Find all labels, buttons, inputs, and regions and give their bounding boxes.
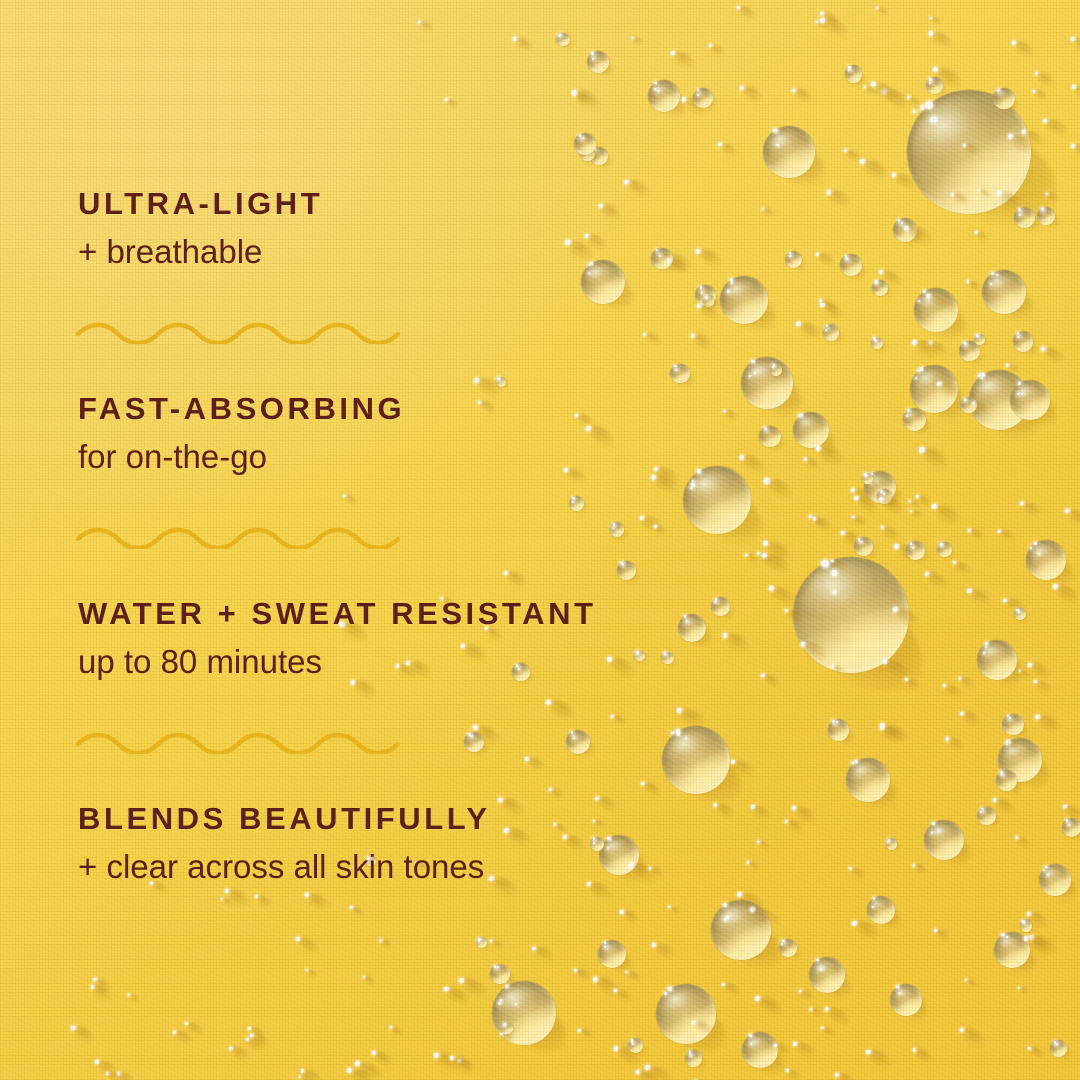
droplet-sparkle xyxy=(1022,130,1026,134)
droplet-sparkle xyxy=(1035,715,1040,720)
droplet-sparkle xyxy=(1028,1047,1031,1050)
water-droplet xyxy=(977,807,995,825)
droplet-sparkle xyxy=(844,149,847,152)
water-droplet xyxy=(996,770,1017,791)
feature-item-fast-absorbing: FAST-ABSORBING for on-the-go xyxy=(78,393,405,473)
droplet-sparkle xyxy=(852,921,857,926)
droplet-sparkle xyxy=(1018,987,1020,989)
water-droplet xyxy=(890,984,922,1016)
droplet-sparkle xyxy=(1046,193,1048,195)
feature-headline: FAST-ABSORBING xyxy=(78,393,405,424)
droplet-sparkle xyxy=(951,193,954,196)
feature-subline: + breathable xyxy=(78,235,323,268)
droplet-sparkle xyxy=(849,867,852,870)
water-droplet xyxy=(846,758,890,802)
droplet-sparkle xyxy=(967,589,971,593)
water-droplet xyxy=(828,719,850,741)
droplet-sparkle xyxy=(925,572,929,576)
water-droplet xyxy=(937,542,951,556)
water-droplet xyxy=(793,412,829,448)
water-droplet xyxy=(974,334,985,345)
droplet-sparkle xyxy=(860,159,865,164)
droplet-sparkle xyxy=(816,21,818,23)
droplet-sparkle xyxy=(831,560,834,563)
droplet-sparkle xyxy=(854,496,858,500)
droplet-sparkle xyxy=(813,517,816,520)
droplet-sparkle xyxy=(913,1048,917,1052)
droplet-sparkle xyxy=(892,173,896,177)
droplet-sparkle xyxy=(953,561,956,564)
droplet-sparkle xyxy=(1006,364,1008,366)
droplet-sparkle xyxy=(883,659,888,664)
droplet-sparkle xyxy=(809,515,812,518)
droplet-sparkle xyxy=(796,322,800,326)
water-droplet xyxy=(1014,608,1027,621)
droplet-sparkle xyxy=(762,553,767,558)
water-droplet xyxy=(862,473,873,484)
droplet-sparkle xyxy=(764,478,769,483)
droplet-sparkle xyxy=(1071,144,1075,148)
droplet-sparkle xyxy=(965,979,967,981)
droplet-sparkle xyxy=(937,382,942,387)
droplet-sparkle xyxy=(912,340,917,345)
droplet-sparkle xyxy=(909,500,911,502)
droplet-sparkle xyxy=(934,929,937,932)
droplet-sparkle xyxy=(819,299,822,302)
feature-headline: ULTRA-LIGHT xyxy=(78,188,323,219)
droplet-sparkle xyxy=(963,144,966,147)
droplet-sparkle xyxy=(799,990,802,993)
water-droplet xyxy=(993,88,1015,110)
promo-graphic: ULTRA-LIGHT + breathable FAST-ABSORBING … xyxy=(0,0,1080,1080)
droplet-sparkle xyxy=(904,226,909,231)
droplet-sparkle xyxy=(972,402,975,405)
water-droplet xyxy=(763,126,815,178)
droplet-sparkle xyxy=(905,678,908,681)
feature-subline: for on-the-go xyxy=(78,440,405,473)
water-droplet xyxy=(903,408,926,431)
droplet-sparkle xyxy=(820,18,825,23)
water-droplet xyxy=(785,251,802,268)
feature-item-water-sweat-resistant: WATER + SWEAT RESISTANT up to 80 minutes xyxy=(78,598,597,678)
droplet-sparkle xyxy=(1072,85,1076,89)
feature-list: ULTRA-LIGHT + breathable FAST-ABSORBING … xyxy=(0,0,760,1080)
water-droplet xyxy=(1010,380,1050,420)
droplet-sparkle xyxy=(816,253,819,256)
droplet-sparkle xyxy=(975,231,977,233)
divider-1 xyxy=(76,318,406,344)
water-droplet xyxy=(1050,1040,1067,1057)
water-droplet xyxy=(867,896,895,924)
water-droplet xyxy=(1039,864,1071,896)
water-droplet xyxy=(845,65,863,83)
droplet-sparkle xyxy=(1065,509,1069,513)
droplet-sparkle xyxy=(893,607,898,612)
droplet-sparkle xyxy=(880,725,884,729)
droplet-sparkle xyxy=(827,190,831,194)
droplet-sparkle xyxy=(876,7,878,9)
droplet-sparkle xyxy=(1019,670,1021,672)
water-droplet xyxy=(759,426,780,447)
droplet-sparkle xyxy=(1024,936,1029,941)
droplet-sparkle xyxy=(919,447,924,452)
droplet-sparkle xyxy=(1034,680,1037,683)
droplet-sparkle xyxy=(816,446,821,451)
droplet-sparkle xyxy=(943,684,946,687)
droplet-sparkle xyxy=(1016,836,1019,839)
droplet-sparkle xyxy=(841,531,845,535)
droplet-sparkle xyxy=(1027,912,1031,916)
droplet-sparkle xyxy=(1041,347,1045,351)
droplet-sparkle xyxy=(821,1027,823,1029)
feature-headline: WATER + SWEAT RESISTANT xyxy=(78,598,597,629)
droplet-sparkle xyxy=(769,586,774,591)
droplet-sparkle xyxy=(997,191,1002,196)
droplet-sparkle xyxy=(879,497,883,501)
droplet-sparkle xyxy=(959,677,962,680)
droplet-sparkle xyxy=(1053,584,1058,589)
droplet-sparkle xyxy=(927,294,931,298)
droplet-sparkle xyxy=(960,712,964,716)
droplet-sparkle xyxy=(820,12,823,15)
droplet-sparkle xyxy=(801,642,806,647)
droplet-sparkle xyxy=(930,17,932,19)
droplet-sparkle xyxy=(866,1050,871,1055)
droplet-sparkle xyxy=(916,495,919,498)
droplet-sparkle xyxy=(852,516,855,519)
droplet-sparkle xyxy=(1071,37,1075,41)
droplet-sparkle xyxy=(786,1069,789,1072)
droplet-sparkle xyxy=(978,189,980,191)
droplet-sparkle xyxy=(832,665,834,667)
water-droplet xyxy=(1037,207,1055,225)
water-droplet xyxy=(871,337,883,349)
water-droplet xyxy=(924,820,964,860)
droplet-sparkle xyxy=(1028,663,1032,667)
water-droplet xyxy=(779,939,798,958)
water-droplet xyxy=(886,838,897,849)
water-droplet xyxy=(1026,540,1066,580)
water-droplet xyxy=(982,270,1026,314)
water-droplet xyxy=(977,640,1017,680)
droplet-sparkle xyxy=(1033,90,1036,93)
droplet-sparkle xyxy=(1008,134,1013,139)
droplet-sparkle xyxy=(1063,805,1067,809)
droplet-sparkle xyxy=(792,89,796,93)
droplet-sparkle xyxy=(785,609,788,612)
droplet-sparkle xyxy=(913,864,916,867)
droplet-sparkle xyxy=(792,806,796,810)
droplet-sparkle xyxy=(910,510,912,512)
droplet-sparkle xyxy=(785,820,788,823)
droplet-sparkle xyxy=(960,1028,965,1033)
droplet-sparkle xyxy=(993,798,997,802)
droplet-sparkle xyxy=(864,86,866,88)
droplet-sparkle xyxy=(1035,72,1039,76)
feature-item-blends-beautifully: BLENDS BEAUTIFULLY + clear across all sk… xyxy=(78,803,491,883)
droplet-sparkle xyxy=(1006,741,1008,743)
droplet-sparkle xyxy=(1043,119,1047,123)
droplet-sparkle xyxy=(998,530,1001,533)
droplet-sparkle xyxy=(835,1073,839,1077)
feature-item-ultra-light: ULTRA-LIGHT + breathable xyxy=(78,188,323,268)
droplet-sparkle xyxy=(820,303,824,307)
droplet-sparkle xyxy=(793,1042,797,1046)
water-droplet xyxy=(840,254,862,276)
droplet-sparkle xyxy=(825,1007,829,1011)
feature-subline: up to 80 minutes xyxy=(78,645,597,678)
water-droplet xyxy=(809,957,845,993)
droplet-sparkle xyxy=(851,488,855,492)
water-droplet xyxy=(1002,714,1024,736)
droplet-sparkle xyxy=(1020,502,1024,506)
droplet-sparkle xyxy=(810,1008,812,1010)
droplet-sparkle xyxy=(933,67,938,72)
droplet-sparkle xyxy=(1003,599,1007,603)
water-droplet xyxy=(1013,331,1034,352)
droplet-sparkle xyxy=(1012,41,1016,45)
droplet-sparkle xyxy=(774,1044,777,1047)
droplet-sparkle xyxy=(762,208,764,210)
droplet-sparkle xyxy=(804,458,807,461)
water-droplet xyxy=(770,364,782,376)
droplet-sparkle xyxy=(894,544,898,548)
droplet-sparkle xyxy=(763,541,768,546)
feature-headline: BLENDS BEAUTIFULLY xyxy=(78,803,491,834)
droplet-sparkle xyxy=(946,737,949,740)
droplet-sparkle xyxy=(929,31,933,35)
water-droplet xyxy=(854,537,873,556)
water-droplet xyxy=(823,324,840,341)
droplet-sparkle xyxy=(968,529,971,532)
droplet-sparkle xyxy=(879,270,883,274)
droplet-sparkle xyxy=(932,504,937,509)
divider-2 xyxy=(76,523,406,549)
feature-subline: + clear across all skin tones xyxy=(78,850,491,883)
droplet-sparkle xyxy=(761,674,764,677)
water-droplet xyxy=(906,541,925,560)
droplet-sparkle xyxy=(881,526,884,529)
divider-3 xyxy=(76,728,406,754)
droplet-sparkle xyxy=(967,280,970,283)
